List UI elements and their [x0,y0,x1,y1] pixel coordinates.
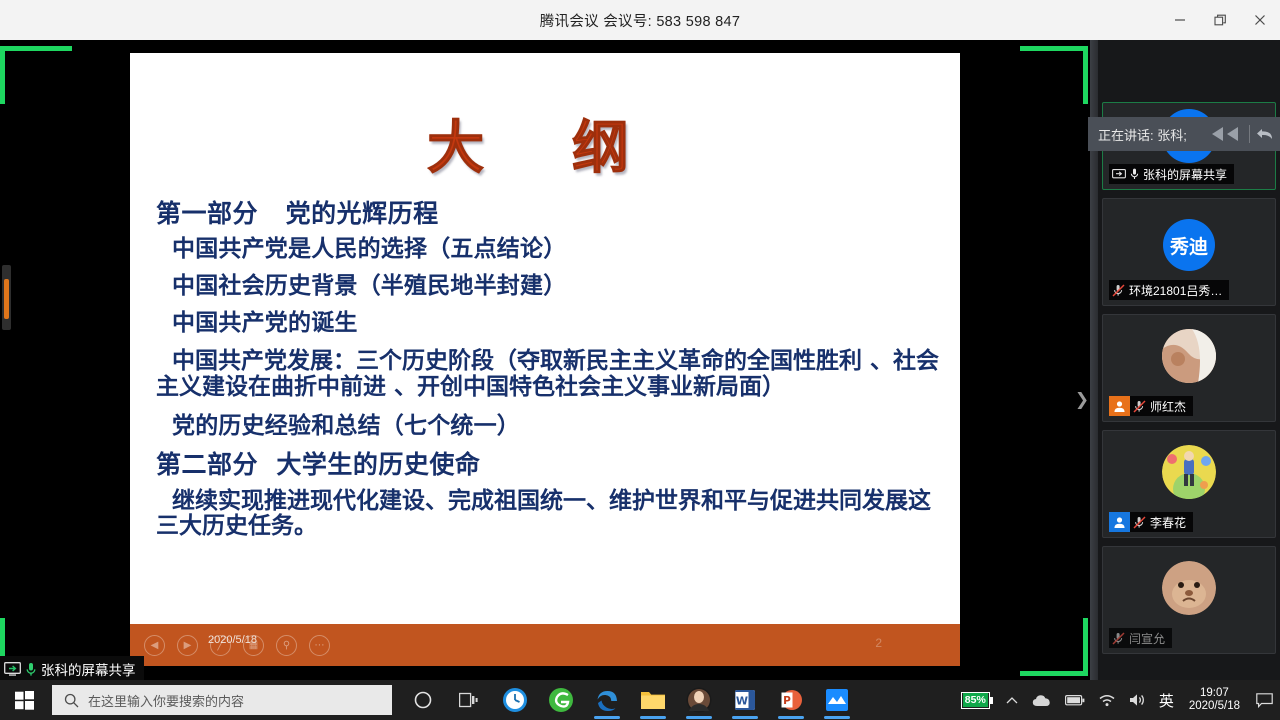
scrollbar-thumb[interactable] [4,279,9,319]
slide-line: 中国社会历史背景（半殖民地半封建） [156,275,946,298]
presentation-slide: 大 纲 第一部分 党的光辉历程 中国共产党是人民的选择（五点结论） 中国社会历史… [130,53,960,666]
search-icon [64,693,79,708]
powerpoint-icon[interactable]: P [768,680,814,720]
avatar: 秀迪 [1163,219,1215,271]
participant-tile[interactable]: 李春花 [1102,430,1276,538]
participant-name-chip: 闫宣允 [1109,628,1172,648]
slide-line: 第二部分 大学生的历史使命 [156,452,946,477]
start-button[interactable] [0,680,48,720]
participant-name: 张科的屏幕共享 [1143,166,1227,183]
previous-slide-icon[interactable]: ◀ [144,635,165,656]
slide-line: 第一部分 党的光辉历程 [156,201,946,226]
participant-name: 师红杰 [1150,398,1186,415]
participant-name-chip: 李春花 [1130,512,1193,532]
clock-app-icon[interactable] [492,680,538,720]
edge-icon[interactable] [584,680,630,720]
meeting-window: 腾讯会议 会议号: 583 598 847 [0,0,1280,720]
slide-title: 大 纲 [130,120,960,177]
onedrive-cloud-icon[interactable] [1025,680,1058,720]
slide-line: 中国共产党的诞生 [156,312,946,335]
powerpoint-presenter-toolbar: ◀ ▶ ╱ ▦ ⚲ ⋯ 2020/5/18 2 [130,624,960,666]
slide-line: 中国共产党是人民的选择（五点结论） [156,238,946,261]
svg-text:P: P [783,695,791,707]
next-slide-icon[interactable]: ▶ [177,635,198,656]
title-bar: 腾讯会议 会议号: 583 598 847 [0,0,1280,40]
participant-role-badge [1109,396,1130,416]
system-tray: 85% [954,680,1280,720]
minimize-button[interactable] [1160,0,1200,40]
reply-arrow-icon[interactable] [1256,126,1274,142]
screen-share-icon [4,662,21,676]
slide-line: 党的历史经验和总结（七个统一） [156,415,946,438]
divider [1249,125,1250,143]
participant-name-chip: 环境21801吕秀… [1109,280,1229,300]
microphone-muted-icon [1112,284,1125,297]
avatar [1162,561,1216,615]
slide-line: 中国共产党发展：三个历史阶段（夺取新民主主义革命的全国性胜利 、社会主义建设在曲… [156,349,946,401]
window-controls [1160,0,1280,40]
restore-button[interactable] [1200,0,1240,40]
participant-tile[interactable]: 秀迪 环境21801吕秀… [1102,198,1276,306]
avatar [1162,445,1216,499]
microphone-icon [1130,168,1139,180]
active-speaker-banner: 正在讲话: 张科; [1088,117,1280,151]
participant-name-chip: 张科的屏幕共享 [1109,164,1234,184]
avatar [1162,329,1216,383]
slide-number: 2 [875,636,882,650]
share-border-corner-bottom-right [1020,618,1088,676]
window-title: 腾讯会议 会议号: 583 598 847 [540,10,741,31]
notification-center-icon[interactable] [1249,680,1280,720]
slide-date-tooltip: 2020/5/18 [208,634,257,646]
microphone-muted-icon [1133,400,1146,413]
svg-text:W: W [736,695,748,708]
slide-line: 继续实现推进现代化建设、完成祖国统一、维护世界和平与促进共同发展这三大历史任务。 [156,489,946,541]
taskbar-clock[interactable]: 19:07 2020/5/18 [1180,687,1249,713]
screen-share-owner: 张科的屏幕共享 [41,659,136,679]
participant-name: 环境21801吕秀… [1129,282,1222,299]
speaker-icon[interactable] [1122,680,1153,720]
participant-name-chip: 师红杰 [1130,396,1193,416]
microphone-icon [25,662,37,677]
wifi-icon[interactable] [1092,680,1122,720]
battery-icon[interactable] [1058,680,1092,720]
participant-tile[interactable]: 闫宣允 [1102,546,1276,654]
shared-screen-viewport: ❯ 大 纲 第一部分 党的光辉历程 中国共产党是人民的选择（五点结论） 中国社会… [0,40,1098,680]
chevron-right-icon[interactable]: ❯ [1074,388,1090,412]
browser-360-icon[interactable] [538,680,584,720]
ime-indicator[interactable]: 英 [1153,680,1180,720]
slide-body: 第一部分 党的光辉历程 中国共产党是人民的选择（五点结论） 中国社会历史背景（半… [156,201,946,554]
active-speaker-label: 正在讲话: 张科; [1098,125,1187,144]
task-view-icon[interactable] [446,680,492,720]
clock-time: 19:07 [1189,687,1240,700]
participant-name: 闫宣允 [1129,630,1165,647]
screen-share-icon [1112,169,1126,180]
battery-percent-badge[interactable]: 85% [954,680,999,720]
microphone-muted-icon [1112,632,1125,645]
show-hidden-icons-chevron-icon[interactable] [999,680,1025,720]
share-border-corner-top-left [0,46,72,104]
screen-share-label: 张科的屏幕共享 [0,656,144,680]
zoom-icon[interactable]: ⚲ [276,635,297,656]
share-border-corner-top-right [1020,46,1088,104]
participant-role-badge [1109,512,1130,532]
battery-percent-label: 85% [963,693,988,707]
microphone-muted-icon [1133,516,1146,529]
participant-name: 李春花 [1150,514,1186,531]
participant-panel: 张科的屏幕共享 秀迪 环境21801吕秀… [1098,40,1280,680]
search-input[interactable]: 在这里输入你要搜索的内容 [52,685,392,715]
clock-date: 2020/5/18 [1189,700,1240,713]
search-placeholder: 在这里输入你要搜索的内容 [88,691,244,710]
photo-app-icon[interactable] [676,680,722,720]
double-chevron-left-icon[interactable] [1209,126,1243,142]
close-button[interactable] [1240,0,1280,40]
windows-taskbar: 在这里输入你要搜索的内容 [0,680,1280,720]
file-explorer-icon[interactable] [630,680,676,720]
more-options-icon[interactable]: ⋯ [309,635,330,656]
scrollbar[interactable] [2,265,11,330]
word-icon[interactable]: W [722,680,768,720]
meeting-app-icon[interactable] [814,680,860,720]
cortana-circle-icon[interactable] [400,680,446,720]
participant-tile[interactable]: 师红杰 [1102,314,1276,422]
